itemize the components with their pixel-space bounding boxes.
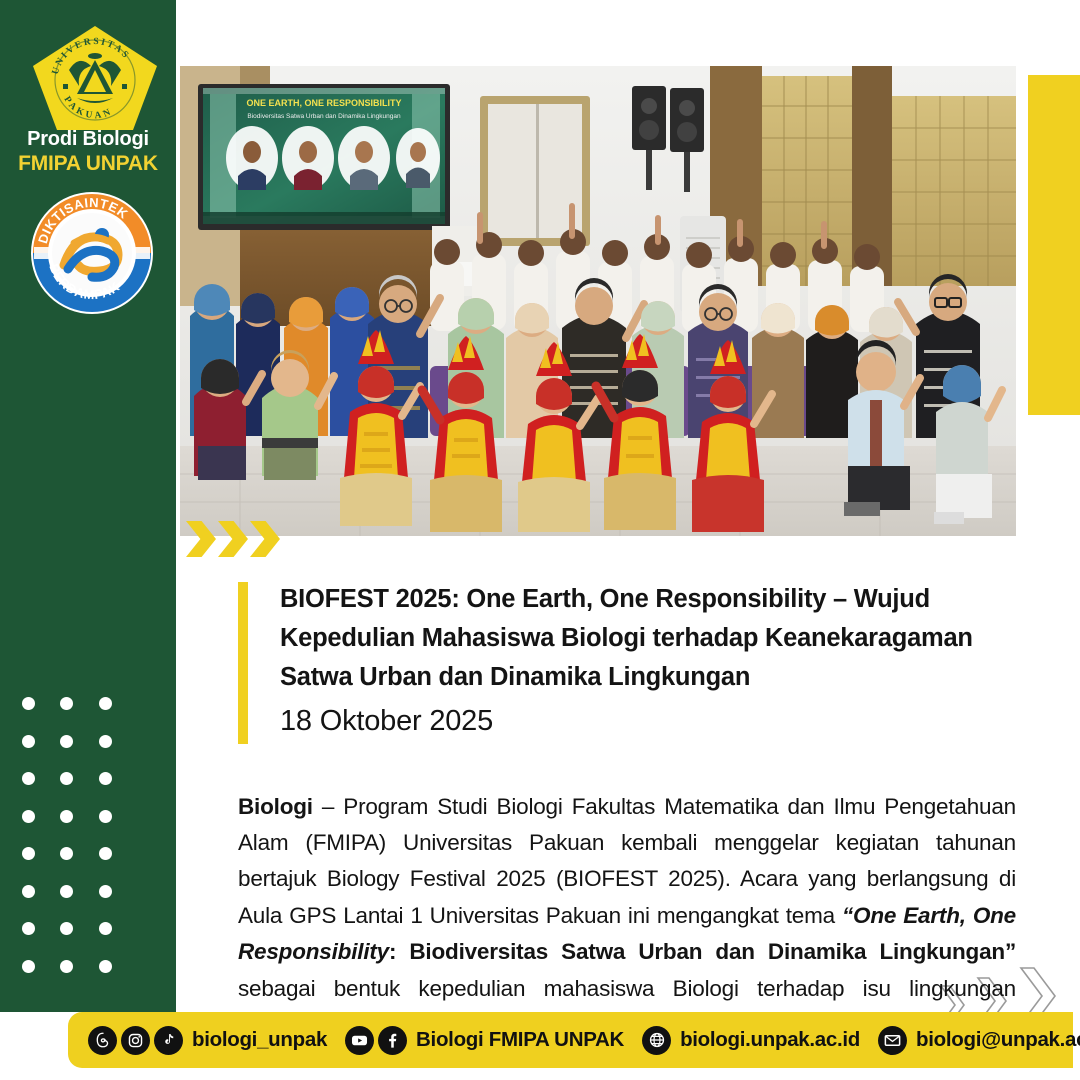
footer-group-video: Biologi FMIPA UNPAK bbox=[345, 1026, 624, 1055]
title-accent-bar bbox=[238, 582, 248, 744]
universitas-pakuan-logo: UNIVERSITAS PAKUAN bbox=[27, 22, 163, 134]
right-yellow-accent-bar bbox=[1028, 75, 1080, 415]
poster-canvas: ONE EARTH, ONE RESPONSIBILITY Biodiversi… bbox=[0, 0, 1080, 1080]
article-paragraph: Biologi – Program Studi Biologi Fakultas… bbox=[238, 789, 1016, 1044]
facebook-icon[interactable] bbox=[378, 1026, 407, 1055]
footer-group-social: biologi_unpak bbox=[88, 1026, 327, 1055]
footer-label-video: Biologi FMIPA UNPAK bbox=[416, 1028, 624, 1052]
threads-icon[interactable] bbox=[88, 1026, 117, 1055]
instagram-icon[interactable] bbox=[121, 1026, 150, 1055]
yellow-chevron-group bbox=[186, 521, 280, 557]
youtube-icon[interactable] bbox=[345, 1026, 374, 1055]
article-theme-bold: : Biodiversitas Satwa Urban dan Dinamika… bbox=[389, 939, 1016, 964]
footer-label-email: biologi@unpak.ac.id bbox=[916, 1028, 1080, 1052]
globe-icon[interactable] bbox=[642, 1026, 671, 1055]
footer-group-website: biologi.unpak.ac.id bbox=[642, 1026, 860, 1055]
page-title: BIOFEST 2025: One Earth, One Responsibil… bbox=[280, 580, 1028, 696]
event-photo: ONE EARTH, ONE RESPONSIBILITY Biodiversi… bbox=[180, 66, 1016, 536]
left-sidebar: UNIVERSITAS PAKUAN Prodi Biologi FMIPA U… bbox=[0, 0, 176, 1012]
chevron-right-icon bbox=[186, 521, 216, 557]
envelope-icon[interactable] bbox=[878, 1026, 907, 1055]
footer-label-website: biologi.unpak.ac.id bbox=[680, 1028, 860, 1052]
footer-group-email: biologi@unpak.ac.id bbox=[878, 1026, 1080, 1055]
event-photo-illustration: ONE EARTH, ONE RESPONSIBILITY Biodiversi… bbox=[180, 66, 1016, 536]
brand-line-prodi: Prodi Biologi bbox=[0, 128, 176, 151]
diktisaintek-berdampak-logo: DIKTISAINTEK BERDAMPAK bbox=[30, 191, 154, 315]
title-block: BIOFEST 2025: One Earth, One Responsibil… bbox=[238, 580, 1028, 739]
chevron-right-icon bbox=[250, 521, 280, 557]
dot-pattern bbox=[22, 697, 137, 997]
svg-text:Biodiversitas Satwa Urban dan: Biodiversitas Satwa Urban dan Dinamika L… bbox=[247, 113, 401, 120]
tiktok-icon[interactable] bbox=[154, 1026, 183, 1055]
article-lead: Biologi bbox=[238, 794, 313, 819]
chevron-right-icon bbox=[218, 521, 248, 557]
article-date: 18 Oktober 2025 bbox=[280, 704, 1028, 739]
footer-contact-bar: biologi_unpak Biologi FMIPA UNPAK biolog… bbox=[68, 1012, 1073, 1068]
brand-line-fmipa: FMIPA UNPAK bbox=[0, 152, 176, 176]
footer-label-social: biologi_unpak bbox=[192, 1028, 327, 1052]
svg-text:ONE EARTH, ONE RESPONSIBILITY: ONE EARTH, ONE RESPONSIBILITY bbox=[246, 98, 401, 108]
